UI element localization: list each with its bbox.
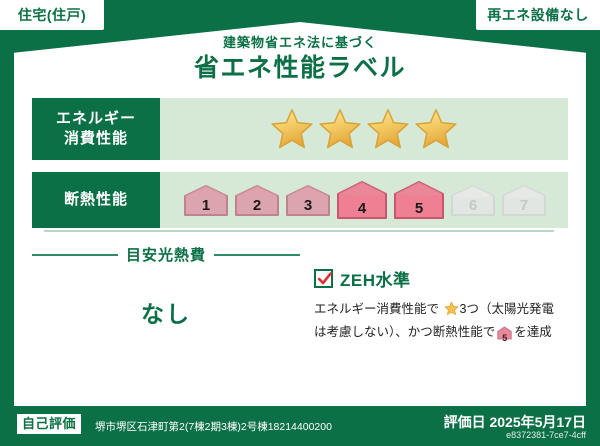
star-icon — [440, 305, 458, 319]
insulation-level-7: 7 — [501, 184, 547, 217]
utility-cost-section: 目安光熱費 なし — [32, 238, 300, 392]
zeh-section: ZEH水準 エネルギー消費性能で 3つ（太陽光発電 は考慮しない）、かつ断熱性能… — [314, 238, 570, 392]
insulation-level-3: 3 — [285, 184, 331, 217]
insulation-level-2: 2 — [234, 184, 280, 217]
badge-renewable-energy: 再エネ設備なし — [476, 0, 600, 30]
utility-cost-value: なし — [32, 295, 300, 329]
zeh-title: ZEH水準 — [340, 266, 411, 291]
insulation-level-1: 1 — [183, 184, 229, 217]
star-icon — [270, 107, 314, 151]
star-rating — [160, 98, 568, 160]
zeh-desc-part2: は考慮しない）、かつ断熱性能で — [314, 325, 495, 339]
insulation-level-6: 6 — [450, 184, 496, 217]
house-icon: 5 — [497, 326, 512, 346]
star-icon — [414, 107, 458, 151]
page-title: 省エネ性能ラベル — [0, 54, 600, 83]
utility-cost-heading: 目安光熱費 — [32, 244, 300, 265]
utility-cost-heading-text: 目安光熱費 — [126, 244, 206, 265]
heading-rule-left — [32, 254, 118, 256]
header-subtitle: 建築物省エネ法に基づく — [0, 36, 600, 51]
zeh-header: ZEH水準 — [314, 266, 570, 291]
zeh-desc-star-count: 3つ（太陽光発電 — [460, 302, 554, 316]
row-insulation-performance: 断熱性能 1234567 — [32, 172, 568, 228]
house-icon-level: 5 — [497, 331, 512, 345]
zeh-description: エネルギー消費性能で 3つ（太陽光発電 は考慮しない）、かつ断熱性能で 5を達成 — [314, 299, 570, 346]
heading-rule-right — [214, 254, 300, 256]
document-id: e8372381-7ce7-4cff — [506, 430, 586, 440]
star-icon — [366, 107, 410, 151]
row-energy-label: エネルギー 消費性能 — [32, 98, 160, 160]
badge-building-type: 住宅(住戸) — [0, 0, 104, 30]
insulation-level-4: 4 — [336, 180, 388, 220]
star-icon — [318, 107, 362, 151]
insulation-level-5: 5 — [393, 180, 445, 220]
row-energy-label-line2: 消費性能 — [64, 129, 128, 149]
row-energy-label-line1: エネルギー — [56, 109, 136, 129]
zeh-desc-part3: を達成 — [514, 325, 552, 339]
evaluation-date: 評価日 2025年5月17日 — [444, 412, 586, 432]
footer: 自己評価 堺市堺区石津町第2(7棟2期3棟)2号棟18214400200 評価日… — [0, 406, 600, 446]
zeh-desc-part1: エネルギー消費性能で — [314, 302, 439, 316]
insulation-level-scale: 1234567 — [160, 172, 568, 228]
energy-performance-label: 住宅(住戸) 再エネ設備なし 建築物省エネ法に基づく 省エネ性能ラベル エネルギ… — [0, 0, 600, 446]
row-insulation-label: 断熱性能 — [32, 172, 160, 228]
checkmark-icon — [314, 269, 333, 288]
row-energy-performance: エネルギー 消費性能 — [32, 98, 568, 160]
section-divider — [44, 230, 554, 232]
main-panel: エネルギー 消費性能 断熱性能 1234567 目安光熱費 なし — [14, 88, 586, 406]
header: 建築物省エネ法に基づく 省エネ性能ラベル — [0, 36, 600, 83]
row-insulation-label-line1: 断熱性能 — [64, 190, 128, 210]
self-evaluation-badge: 自己評価 — [17, 414, 81, 434]
property-address: 堺市堺区石津町第2(7棟2期3棟)2号棟18214400200 — [95, 419, 332, 434]
